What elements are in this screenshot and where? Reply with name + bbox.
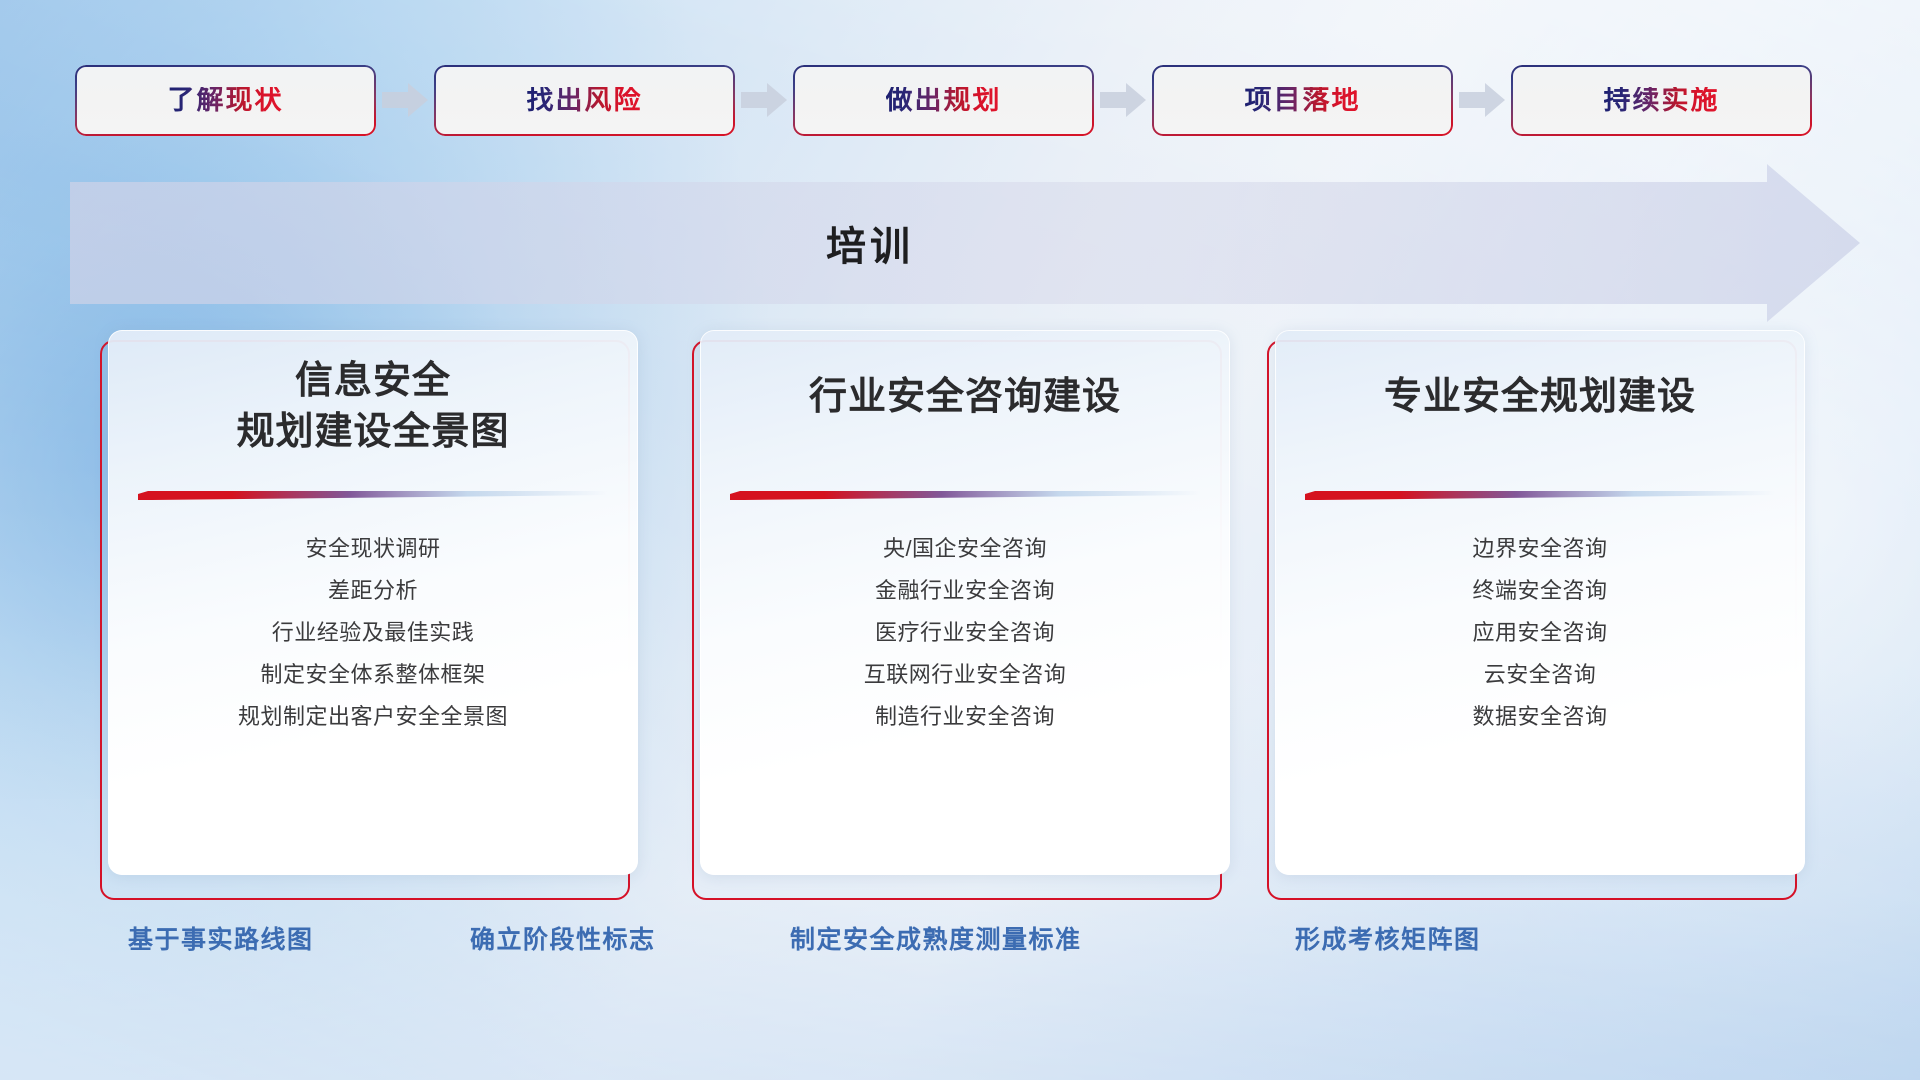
card-item-list-2: 央/国企安全咨询金融行业安全咨询医疗行业安全咨询互联网行业安全咨询制造行业安全咨… [700,538,1230,748]
list-item: 行业经验及最佳实践 [132,622,614,644]
card-title-line: 行业安全咨询建设 [726,372,1204,423]
list-item: 制造行业安全咨询 [724,706,1206,728]
card-item-list-3: 边界安全咨询终端安全咨询应用安全咨询云安全咨询数据安全咨询 [1275,538,1805,748]
footer-label-4: 形成考核矩阵图 [1295,920,1481,956]
list-item: 差距分析 [132,580,614,602]
card-title-line: 专业安全规划建设 [1301,372,1779,423]
step-box-4[interactable]: 项目落地 [1152,65,1453,136]
card-title-line: 信息安全 [134,356,612,407]
list-item: 央/国企安全咨询 [724,538,1206,560]
list-item: 应用安全咨询 [1299,622,1781,644]
card-body-3: 专业安全规划建设边界安全咨询终端安全咨询应用安全咨询云安全咨询数据安全咨询 [1275,330,1805,875]
footer-label-1: 基于事实路线图 [128,920,314,956]
card-row: 信息安全规划建设全景图安全现状调研差距分析行业经验及最佳实践制定安全体系整体框架… [0,330,1920,890]
card-body-1: 信息安全规划建设全景图安全现状调研差距分析行业经验及最佳实践制定安全体系整体框架… [108,330,638,875]
step-label-4: 项目落地 [1245,87,1361,114]
list-item: 互联网行业安全咨询 [724,664,1206,686]
card-item-list-1: 安全现状调研差距分析行业经验及最佳实践制定安全体系整体框架规划制定出客户安全全景… [108,538,638,748]
list-item: 边界安全咨询 [1299,538,1781,560]
list-item: 医疗行业安全咨询 [724,622,1206,644]
footer-label-row: 基于事实路线图确立阶段性标志制定安全成熟度测量标准形成考核矩阵图 [0,920,1920,980]
list-item: 规划制定出客户安全全景图 [132,706,614,728]
step-label-3: 做出规划 [886,87,1002,114]
training-banner: 培训 [70,164,1860,322]
step-separator-arrow-4 [1453,80,1511,120]
list-item: 云安全咨询 [1299,664,1781,686]
card-divider-1 [138,490,608,502]
step-label-1: 了解现状 [168,87,284,114]
arrow-right-icon [741,83,787,117]
footer-label-2: 确立阶段性标志 [470,920,656,956]
card-title-2: 行业安全咨询建设 [700,330,1230,423]
step-box-1[interactable]: 了解现状 [75,65,376,136]
step-box-2[interactable]: 找出风险 [434,65,735,136]
list-item: 制定安全体系整体框架 [132,664,614,686]
card-divider-2 [730,490,1200,502]
arrow-right-icon [1459,83,1505,117]
card-3: 专业安全规划建设边界安全咨询终端安全咨询应用安全咨询云安全咨询数据安全咨询 [1275,330,1805,890]
process-step-row: 了解现状找出风险做出规划项目落地持续实施 [0,64,1920,136]
step-separator-arrow-2 [735,80,793,120]
arrow-right-icon [1100,83,1146,117]
divider-gradient-bar [1305,491,1775,503]
step-label-2: 找出风险 [527,87,643,114]
card-2: 行业安全咨询建设央/国企安全咨询金融行业安全咨询医疗行业安全咨询互联网行业安全咨… [700,330,1230,890]
footer-label-3: 制定安全成熟度测量标准 [790,920,1082,956]
card-1: 信息安全规划建设全景图安全现状调研差距分析行业经验及最佳实践制定安全体系整体框架… [108,330,638,890]
list-item: 安全现状调研 [132,538,614,560]
step-box-5[interactable]: 持续实施 [1511,65,1812,136]
card-body-2: 行业安全咨询建设央/国企安全咨询金融行业安全咨询医疗行业安全咨询互联网行业安全咨… [700,330,1230,875]
list-item: 数据安全咨询 [1299,706,1781,728]
step-separator-arrow-1 [376,80,434,120]
card-title-3: 专业安全规划建设 [1275,330,1805,423]
divider-gradient-bar [730,491,1200,503]
list-item: 金融行业安全咨询 [724,580,1206,602]
step-label-5: 持续实施 [1604,87,1720,114]
card-divider-3 [1305,490,1775,502]
step-separator-arrow-3 [1094,80,1152,120]
card-title-1: 信息安全规划建设全景图 [108,330,638,458]
list-item: 终端安全咨询 [1299,580,1781,602]
card-title-line: 规划建设全景图 [134,407,612,458]
arrow-right-icon [382,83,428,117]
step-box-3[interactable]: 做出规划 [793,65,1094,136]
banner-title: 培训 [70,164,1670,322]
divider-gradient-bar [138,491,608,503]
